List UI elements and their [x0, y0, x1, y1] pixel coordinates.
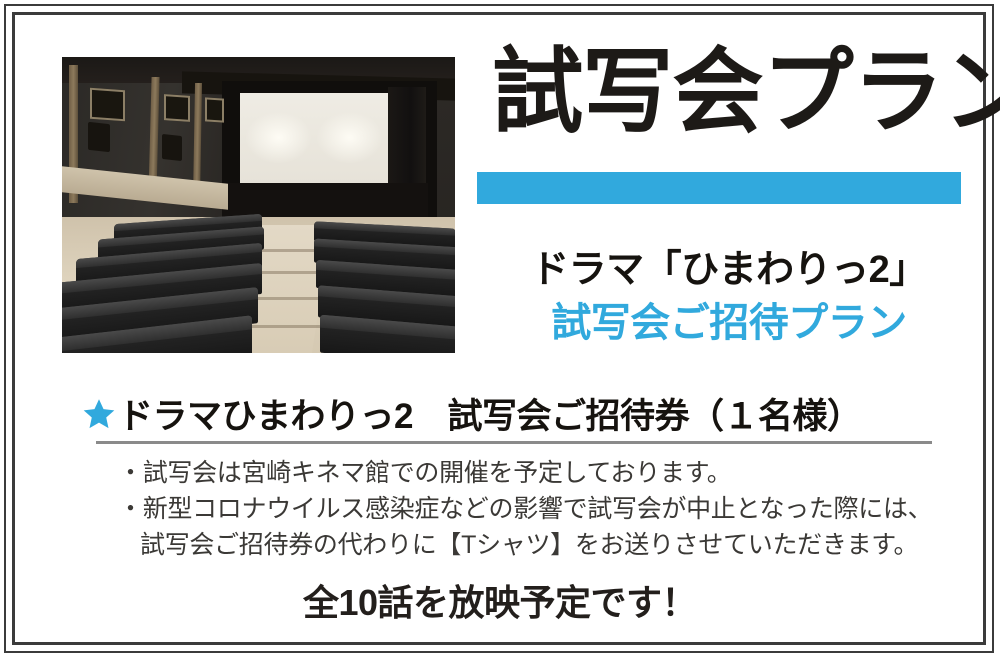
episode-count-note: 全10話を放映予定です！ — [0, 574, 1000, 626]
photo-aisle-step — [242, 325, 322, 328]
headline-underline — [96, 441, 932, 444]
offer-headline: ドラマひまわりっ2 試写会ご招待券（１名様） — [82, 388, 932, 439]
subtitle-line-1: ドラマ「ひまわりっ2」 — [490, 238, 968, 293]
photo-wall-vent — [164, 94, 190, 122]
photo-aisle-step — [254, 271, 322, 274]
notes-block: ・試写会は宮崎キネマ館での開催を予定しております。 ・新型コロナウイルス感染症な… — [118, 455, 908, 563]
photo-projection-screen — [240, 93, 388, 186]
photo-aisle-step — [258, 249, 322, 252]
photo-aisle-step — [248, 297, 322, 300]
note-line: ・試写会は宮崎キネマ館での開催を予定しております。 — [118, 455, 908, 491]
note-line: 試写会ご招待券の代わりに【Tシャツ】をお送りさせていただきます。 — [118, 527, 908, 563]
note-line: ・新型コロナウイルス感染症などの影響で試写会が中止となった際には、 — [118, 491, 908, 527]
star-icon — [82, 397, 116, 431]
photo-wall-vent — [205, 97, 224, 122]
promo-poster: 試写会プラン ドラマ「ひまわりっ2」 試写会ご招待プラン ドラマひまわりっ2 試… — [0, 0, 1000, 659]
photo-wall-speaker — [88, 122, 110, 152]
cinema-interior-photo — [62, 57, 455, 353]
photo-wall-speaker — [162, 134, 182, 161]
title-highlight-band — [477, 172, 961, 204]
photo-wall-vent — [90, 88, 125, 121]
offer-headline-text: ドラマひまわりっ2 試写会ご招待券（１名様） — [118, 388, 861, 439]
subtitle-line-2: 試写会ご招待プラン — [490, 290, 968, 348]
main-title: 試写会プラン — [492, 42, 953, 142]
